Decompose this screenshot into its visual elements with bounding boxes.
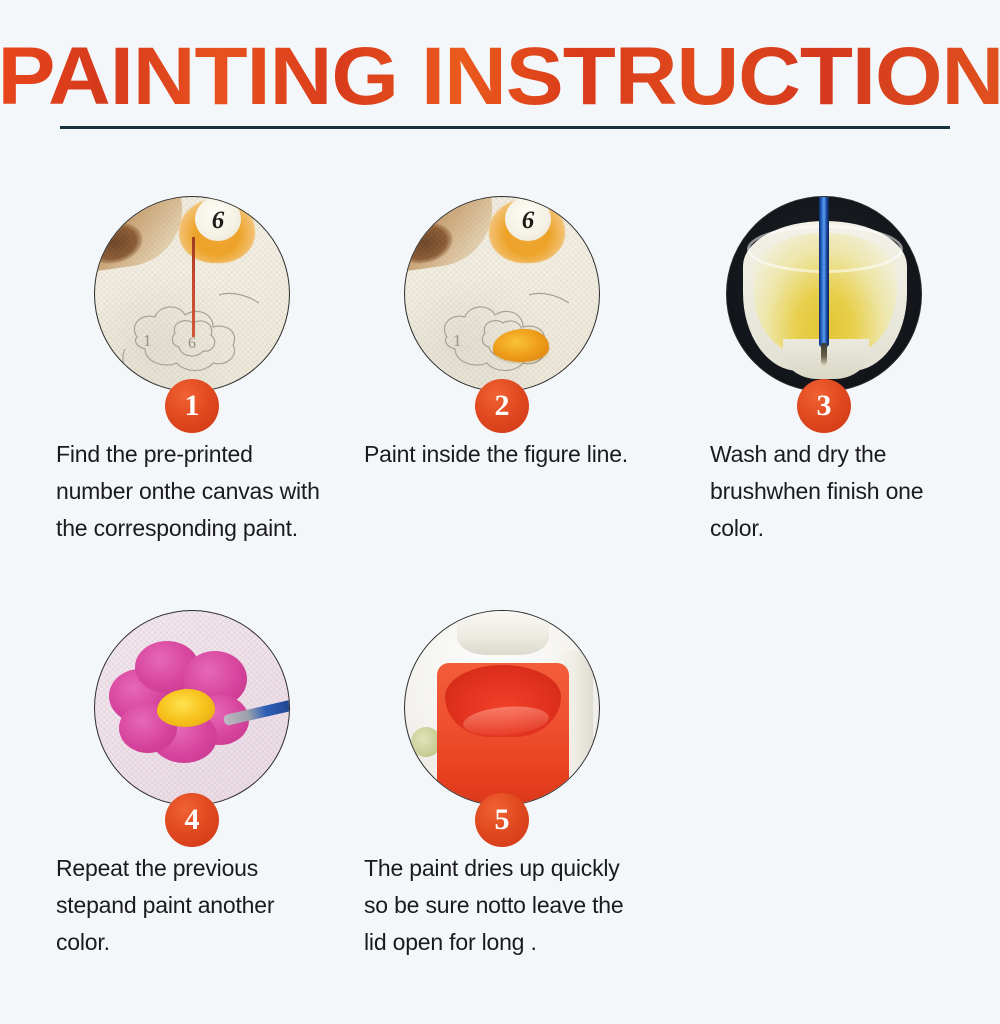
paint-brush-handle (819, 196, 829, 347)
step-caption-1: Find the pre-printed number onthe canvas… (56, 436, 324, 547)
step-card-1: 6 1 6 1 Find the pre-printed number onth… (44, 196, 344, 547)
flower-outline-drawing (429, 289, 579, 373)
paint-brush-tip (821, 343, 827, 365)
step-badge-2: 2 (475, 379, 529, 433)
step-caption-2: Paint inside the figure line. (364, 436, 632, 473)
step-2-photo-wrap: 6 1 2 (404, 196, 600, 392)
page-header: PAINTING INSTRUCTION (0, 34, 1000, 120)
step-card-2: 6 1 2 Paint inside the figure line. (354, 196, 654, 473)
step-2-photo: 6 1 (404, 196, 600, 392)
step-badge-3: 3 (797, 379, 851, 433)
steps-row-top: 6 1 6 1 Find the pre-printed number onth… (0, 196, 1000, 610)
step-badge-5: 5 (475, 793, 529, 847)
paint-pot-number-label: 6 (505, 199, 551, 243)
canvas-with-printed-numbers-illustration: 6 1 6 (95, 197, 289, 391)
paint-pot-number-label: 6 (195, 199, 241, 243)
step-badge-1: 1 (165, 379, 219, 433)
orange-paint-blob (493, 329, 549, 362)
step-card-5: 5 The paint dries up quickly so be sure … (354, 610, 654, 961)
step-4-photo-wrap: 4 (94, 610, 290, 806)
brush-rinsing-in-water-cup-illustration (727, 197, 921, 391)
instruction-steps-grid: 6 1 6 1 Find the pre-printed number onth… (0, 196, 1000, 1024)
title-underline-divider (60, 126, 950, 129)
step-card-3: 3 Wash and dry the brushwhen finish one … (676, 196, 976, 547)
steps-row-bottom: 4 Repeat the previous stepand paint anot… (0, 610, 1000, 1024)
step-card-4: 4 Repeat the previous stepand paint anot… (44, 610, 344, 961)
step-5-photo (404, 610, 600, 806)
pink-flower-painted-illustration (95, 611, 289, 805)
flower-center-yellow (157, 689, 215, 727)
canvas-printed-number-6: 6 (188, 335, 196, 353)
step-caption-5: The paint dries up quickly so be sure no… (364, 850, 632, 961)
step-badge-4: 4 (165, 793, 219, 847)
canvas-printed-number-1: 1 (143, 331, 152, 351)
canvas-printed-number-1: 1 (453, 331, 462, 351)
paint-pot-open-lid (457, 610, 549, 655)
step-1-photo-wrap: 6 1 6 1 (94, 196, 290, 392)
step-1-photo: 6 1 6 (94, 196, 290, 392)
step-5-photo-wrap: 5 (404, 610, 600, 806)
open-red-paint-pot-illustration (405, 611, 599, 805)
canvas-with-orange-paint-blob-illustration: 6 1 (405, 197, 599, 391)
step-caption-4: Repeat the previous stepand paint anothe… (56, 850, 324, 961)
step-3-photo (726, 196, 922, 392)
step-caption-3: Wash and dry the brushwhen finish one co… (710, 436, 960, 547)
page-title: PAINTING INSTRUCTION (0, 34, 1000, 120)
step-3-photo-wrap: 3 (726, 196, 922, 392)
step-4-photo (94, 610, 290, 806)
matching-arrow-line (192, 237, 195, 337)
